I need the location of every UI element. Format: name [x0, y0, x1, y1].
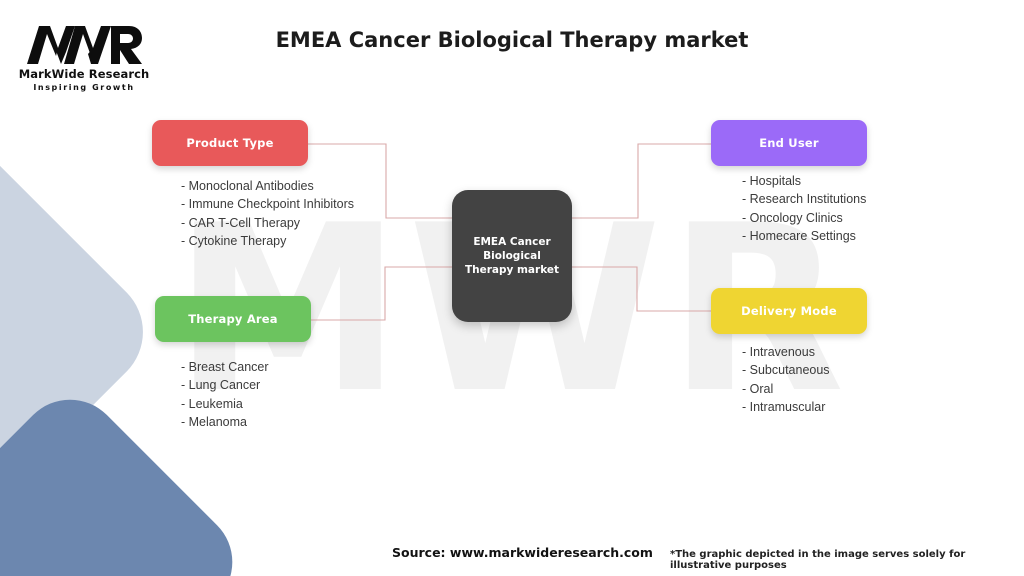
- list-item: - Oncology Clinics: [742, 209, 866, 227]
- category-label-therapy-area: Therapy Area: [188, 312, 278, 326]
- center-hub-label: EMEA Cancer Biological Therapy market: [452, 235, 572, 277]
- list-item: - Oral: [742, 380, 830, 398]
- category-label-end-user: End User: [759, 136, 819, 150]
- category-label-product-type: Product Type: [186, 136, 273, 150]
- category-list-end-user: - Hospitals - Research Institutions - On…: [742, 172, 866, 245]
- list-item: - Cytokine Therapy: [181, 232, 354, 250]
- list-item: - Subcutaneous: [742, 361, 830, 379]
- center-hub: EMEA Cancer Biological Therapy market: [452, 190, 572, 322]
- connector-delivery-mode: [572, 267, 711, 311]
- disclaimer-text: *The graphic depicted in the image serve…: [670, 549, 1024, 571]
- list-item: - Breast Cancer: [181, 358, 269, 376]
- category-box-product-type[interactable]: Product Type: [152, 120, 308, 166]
- category-box-end-user[interactable]: End User: [711, 120, 867, 166]
- source-text: Source: www.markwideresearch.com: [392, 545, 653, 560]
- category-label-delivery-mode: Delivery Mode: [741, 304, 837, 318]
- category-list-therapy-area: - Breast Cancer - Lung Cancer - Leukemia…: [181, 358, 269, 431]
- list-item: - Homecare Settings: [742, 227, 866, 245]
- connector-end-user: [572, 144, 711, 218]
- list-item: - Melanoma: [181, 413, 269, 431]
- connector-therapy-area: [311, 267, 452, 320]
- list-item: - Research Institutions: [742, 190, 866, 208]
- list-item: - CAR T-Cell Therapy: [181, 214, 354, 232]
- list-item: - Intravenous: [742, 343, 830, 361]
- category-box-delivery-mode[interactable]: Delivery Mode: [711, 288, 867, 334]
- list-item: - Immune Checkpoint Inhibitors: [181, 195, 354, 213]
- category-box-therapy-area[interactable]: Therapy Area: [155, 296, 311, 342]
- list-item: - Intramuscular: [742, 398, 830, 416]
- category-list-delivery-mode: - Intravenous - Subcutaneous - Oral - In…: [742, 343, 830, 416]
- list-item: - Monoclonal Antibodies: [181, 177, 354, 195]
- list-item: - Hospitals: [742, 172, 866, 190]
- list-item: - Leukemia: [181, 395, 269, 413]
- infographic-canvas: MWR MarkWide Research Inspiring Growth E…: [0, 0, 1024, 576]
- list-item: - Lung Cancer: [181, 376, 269, 394]
- category-list-product-type: - Monoclonal Antibodies - Immune Checkpo…: [181, 177, 354, 250]
